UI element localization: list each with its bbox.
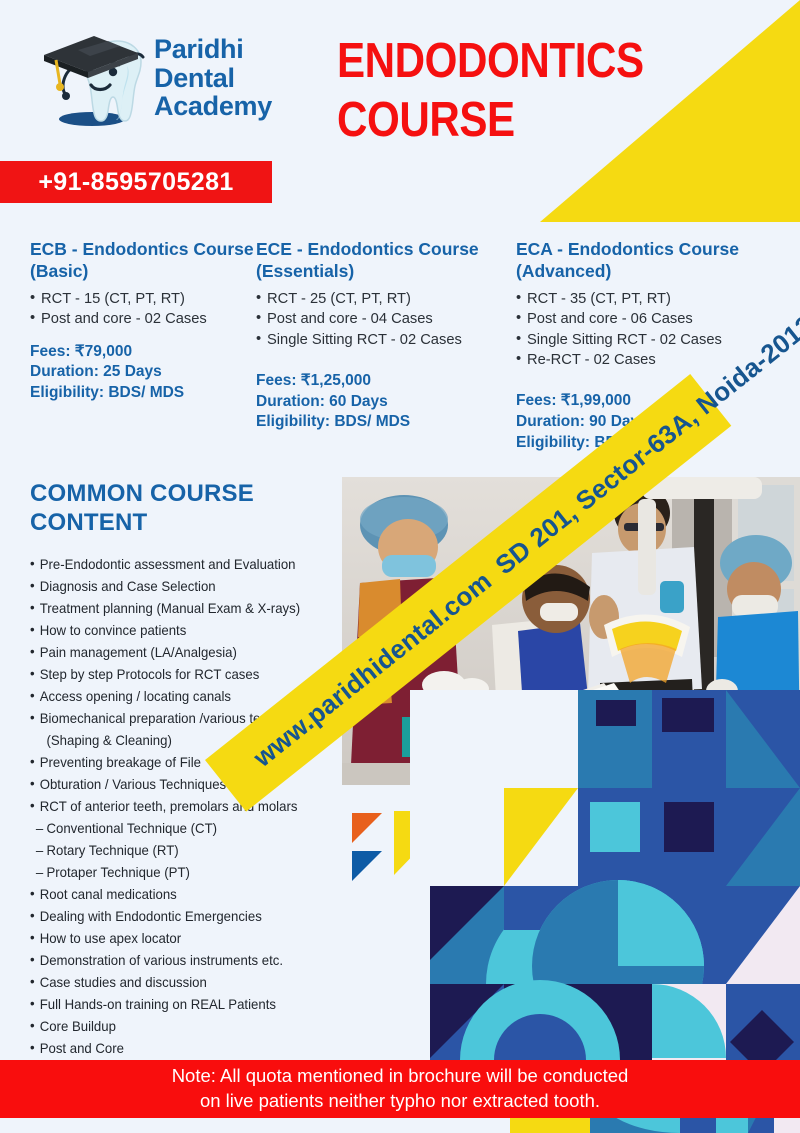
- brand-name-line-2: Dental: [154, 64, 272, 93]
- content-list-item: Pain management (LA/Analgesia): [30, 642, 336, 664]
- content-list-item: How to convince patients: [30, 620, 336, 642]
- course-title: ECA - Endodontics Course (Advanced): [516, 238, 784, 283]
- course-item: RCT - 25 (CT, PT, RT): [256, 290, 510, 309]
- content-list-item: Step by step Protocols for RCT cases: [30, 664, 336, 686]
- course-fees: Fees: ₹1,25,000: [256, 371, 510, 392]
- brochure-page: Paridhi Dental Academy +91-8595705281 EN…: [0, 0, 800, 1133]
- graduation-tooth-icon: [34, 22, 146, 134]
- course-meta: Fees: ₹1,25,000 Duration: 60 Days Eligib…: [256, 371, 510, 433]
- content-list-item: Post and Core: [30, 1038, 336, 1060]
- brand-name-line-3: Academy: [154, 92, 272, 121]
- note-line-1: Note: All quota mentioned in brochure wi…: [172, 1064, 629, 1089]
- common-content-heading: COMMON COURSE CONTENT: [30, 480, 330, 538]
- course-eligibility: Eligibility: BDS/ MDS: [30, 383, 256, 404]
- course-item: Post and core - 02 Cases: [30, 310, 256, 329]
- course-card-ecb: ECB - Endodontics Course (Basic) RCT - 1…: [30, 238, 256, 403]
- course-item: RCT - 35 (CT, PT, RT): [516, 290, 784, 309]
- title-line-1: ENDODONTICS: [337, 38, 621, 85]
- course-item: RCT - 15 (CT, PT, RT): [30, 290, 256, 309]
- content-list-item: Obturation / Various Techniques: [30, 774, 336, 796]
- note-line-2: on live patients neither typho nor extra…: [200, 1089, 600, 1114]
- content-list-item: Pre-Endodontic assessment and Evaluation: [30, 554, 336, 576]
- brand-name: Paridhi Dental Academy: [154, 35, 272, 122]
- content-list-item: How to use apex locator: [30, 928, 336, 950]
- course-fees: Fees: ₹79,000: [30, 342, 256, 363]
- content-list-item: Rotary Technique (RT): [30, 840, 336, 862]
- course-item-list: RCT - 25 (CT, PT, RT) Post and core - 04…: [256, 290, 510, 350]
- course-item: Post and core - 06 Cases: [516, 310, 784, 329]
- content-list-item: Case studies and discussion: [30, 972, 336, 994]
- brand-logo: Paridhi Dental Academy: [34, 22, 272, 134]
- course-title: ECB - Endodontics Course (Basic): [30, 238, 256, 283]
- course-item: Post and core - 04 Cases: [256, 310, 510, 329]
- note-bar: Note: All quota mentioned in brochure wi…: [0, 1060, 800, 1118]
- course-item: Single Sitting RCT - 02 Cases: [256, 331, 510, 350]
- course-item-list: RCT - 15 (CT, PT, RT) Post and core - 02…: [30, 290, 256, 330]
- course-item: Single Sitting RCT - 02 Cases: [516, 331, 784, 350]
- content-list-item: Dealing with Endodontic Emergencies: [30, 906, 336, 928]
- content-list-item: RCT of anterior teeth, premolars and mol…: [30, 796, 336, 818]
- course-duration: Duration: 60 Days: [256, 392, 510, 413]
- phone-number-bar[interactable]: +91-8595705281: [0, 161, 272, 203]
- content-list-item: Core Buildup: [30, 1016, 336, 1038]
- content-list-item: Full Hands-on training on REAL Patients: [30, 994, 336, 1016]
- page-title: ENDODONTICS COURSE: [337, 38, 667, 143]
- brand-name-line-1: Paridhi: [154, 35, 272, 64]
- course-eligibility: Eligibility: BDS/ MDS: [256, 412, 510, 433]
- content-list-item: Treatment planning (Manual Exam & X-rays…: [30, 598, 336, 620]
- phone-number: +91-8595705281: [38, 168, 233, 197]
- content-list-item: Diagnosis and Case Selection: [30, 576, 336, 598]
- common-content-list: Pre-Endodontic assessment and Evaluation…: [30, 554, 345, 1060]
- course-meta: Fees: ₹79,000 Duration: 25 Days Eligibil…: [30, 342, 256, 404]
- content-list-item: Protaper Technique (PT): [30, 862, 336, 884]
- content-list-item: Demonstration of various instruments etc…: [30, 950, 336, 972]
- content-list-item: Conventional Technique (CT): [30, 818, 336, 840]
- course-card-ece: ECE - Endodontics Course (Essentials) RC…: [256, 238, 510, 433]
- course-duration: Duration: 25 Days: [30, 362, 256, 383]
- course-title: ECE - Endodontics Course (Essentials): [256, 238, 510, 283]
- title-line-2: COURSE: [337, 97, 621, 144]
- content-list-item: Root canal medications: [30, 884, 336, 906]
- header: Paridhi Dental Academy +91-8595705281 EN…: [0, 0, 800, 222]
